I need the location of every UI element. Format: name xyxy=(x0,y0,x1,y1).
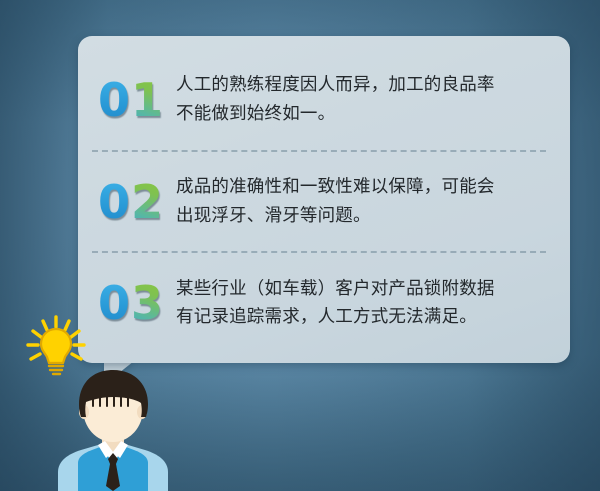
item-text-line: 不能做到始终如一。 xyxy=(176,100,542,128)
digit-zero: 0 xyxy=(98,276,131,330)
digit-two: 2 xyxy=(131,175,164,229)
item-number-03: 03 xyxy=(92,280,176,326)
item-text-line: 成品的准确性和一致性难以保障，可能会 xyxy=(176,173,542,201)
digit-zero: 0 xyxy=(98,175,131,229)
numbered-list: 01 人工的熟练程度因人而异，加工的良品率 不能做到始终如一。 02 成品的准确… xyxy=(92,50,546,353)
item-text-line: 人工的熟练程度因人而异，加工的良品率 xyxy=(176,71,542,99)
digit-one: 1 xyxy=(131,73,164,127)
item-number-01: 01 xyxy=(92,77,176,123)
item-text-03: 某些行业（如车载）客户对产品锁附数据 有记录追踪需求，人工方式无法满足。 xyxy=(176,275,546,332)
item-text-01: 人工的熟练程度因人而异，加工的良品率 不能做到始终如一。 xyxy=(176,71,546,128)
digit-three: 3 xyxy=(131,276,164,330)
item-text-line: 某些行业（如车载）客户对产品锁附数据 xyxy=(176,275,542,303)
item-number-02: 02 xyxy=(92,179,176,225)
item-text-line: 有记录追踪需求，人工方式无法满足。 xyxy=(176,303,542,331)
speech-bubble: 01 人工的熟练程度因人而异，加工的良品率 不能做到始终如一。 02 成品的准确… xyxy=(78,36,570,363)
digit-zero: 0 xyxy=(98,73,131,127)
item-text-02: 成品的准确性和一致性难以保障，可能会 出现浮牙、滑牙等问题。 xyxy=(176,173,546,230)
list-item: 03 某些行业（如车载）客户对产品锁附数据 有记录追踪需求，人工方式无法满足。 xyxy=(92,251,546,353)
list-item: 02 成品的准确性和一致性难以保障，可能会 出现浮牙、滑牙等问题。 xyxy=(92,150,546,252)
person-illustration xyxy=(48,368,178,491)
list-item: 01 人工的熟练程度因人而异，加工的良品率 不能做到始终如一。 xyxy=(92,50,546,150)
poster-canvas: 01 人工的熟练程度因人而异，加工的良品率 不能做到始终如一。 02 成品的准确… xyxy=(0,0,600,491)
item-text-line: 出现浮牙、滑牙等问题。 xyxy=(176,202,542,230)
